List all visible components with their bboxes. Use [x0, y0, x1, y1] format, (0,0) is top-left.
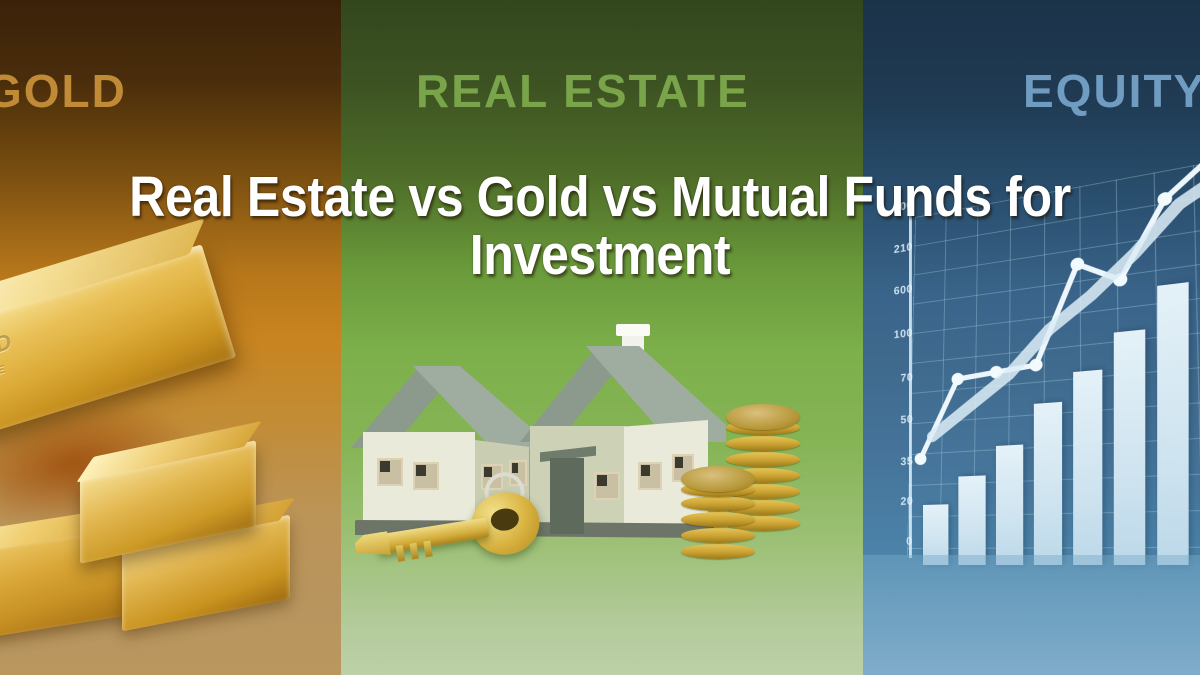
chart-line-point [1029, 358, 1042, 372]
equity-growth-chart: 0 20 35 50 70 100 600 210 200 [863, 0, 1200, 675]
real-estate-illustration [341, 0, 863, 675]
gold-bars-illustration: GOLD 999.9 FINE [0, 280, 341, 640]
house-chimney-cap [616, 324, 650, 336]
panel-real-estate: REAL ESTATE [341, 0, 863, 675]
panel-gold: GOLD GOLD 999.9 FINE [0, 0, 341, 675]
chart-trend-lines [903, 105, 1200, 500]
chart-y-tick: 0 [907, 536, 913, 548]
key-tip [354, 531, 391, 560]
chart-line-point [915, 453, 927, 465]
key-shaft [376, 517, 490, 554]
chart-line-point [952, 373, 964, 386]
house-window [377, 458, 403, 486]
chart-floor-surface [863, 555, 1200, 675]
gold-coin-stack-short [681, 466, 755, 570]
house-window [638, 462, 662, 490]
house-window [413, 462, 439, 490]
panel-gold-watermark-label: GOLD [0, 64, 127, 118]
chart-line-point [1071, 257, 1085, 271]
house-window [594, 472, 620, 500]
panel-equity: EQUITY 0 20 35 50 70 100 600 210 200 [863, 0, 1200, 675]
article-hero-banner: GOLD GOLD 999.9 FINE REAL ESTATE [0, 0, 1200, 675]
house-front-door [550, 458, 584, 534]
chart-line-point [1157, 191, 1172, 206]
